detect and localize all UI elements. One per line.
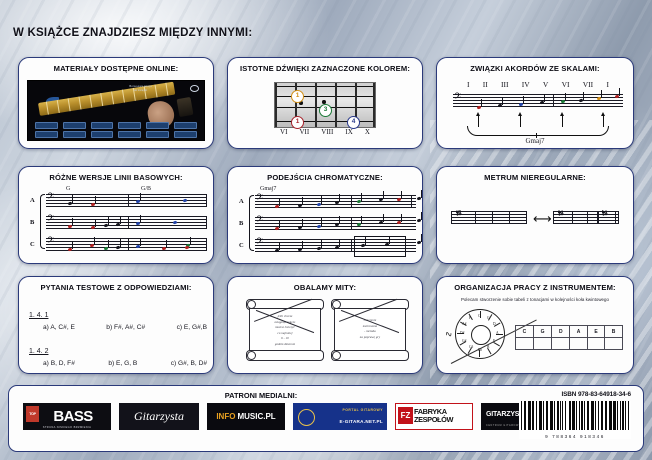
sponsor-tagline: CENTRUM GITAROWE (486, 424, 521, 427)
panel-chord-scale: ZWIĄZKI AKORDÓW ZE SKALAMI: I II III IV … (436, 57, 634, 149)
system-label-c: C (239, 242, 244, 249)
table-header-cell: C (516, 326, 534, 338)
headstock-photo (176, 97, 193, 117)
answer-option[interactable]: a) B, D, F# (43, 360, 75, 367)
table-cell[interactable] (533, 338, 552, 350)
quiz-question-1: 1. 4. 1 a) A, C#, E b) F#, A#, C# c) E, … (19, 304, 213, 331)
scale-degree: VII (583, 80, 593, 89)
answer-row: a) B, D, F# b) E, G, B c) G#, B, D# (29, 360, 213, 367)
chromatic-staff-c: 𝄢 (255, 239, 416, 253)
sponsor-logo-gitarzysta[interactable]: Gitarzysta (119, 403, 199, 430)
fret-number: VI (280, 128, 287, 136)
bass-clef-icon: 𝄢 (256, 193, 263, 204)
panel-quiz: PYTANIA TESTOWE Z ODPOWIEDZIAMI: 1. 4. 1… (18, 276, 214, 374)
time-signature-right-b: 2/4 (600, 210, 607, 214)
panel-online-title: MATERIAŁY DOSTĘPNE ONLINE: (19, 64, 213, 73)
meter-staff-right: 3/4 2/4 (553, 211, 619, 225)
table-header-cell: B (605, 326, 623, 338)
panel-myths-title: OBALAMY MITY: (228, 283, 422, 292)
thumbnail[interactable] (174, 122, 197, 129)
thumbnail[interactable] (35, 122, 58, 129)
fret-marker-3: 3 (319, 104, 332, 117)
panel-colored-notes: ISTOTNE DŹWIĘKI ZAZNACZONE KOLOREM: 1 3 … (227, 57, 423, 149)
circle-label: G (487, 316, 490, 320)
table-header-cell: G (533, 326, 552, 338)
circle-label: G# (462, 339, 466, 343)
video-caption: Bonusowa lekcja do książki (91, 85, 190, 93)
time-signature-right-a: 3/4 (556, 210, 563, 214)
table-row (516, 338, 623, 350)
scale-degree: IV (522, 80, 530, 89)
bass-clef-icon: 𝄢 (454, 92, 461, 103)
meter-staff-left: 5/4 (451, 211, 527, 225)
table-cell[interactable] (552, 338, 570, 350)
hand-drawn-squiggle-icon: ∿ (444, 328, 454, 341)
scale-degree: I (606, 80, 609, 89)
circle-of-fifths-diagram: C G D A E B F# C# G# D# A# F (455, 309, 505, 359)
table-cell[interactable] (516, 338, 534, 350)
myth-scroll-1: jeśli chcesz osiągnąć sukces musisz ćwic… (246, 299, 324, 361)
chord-symbol-g-b: G/B (141, 186, 151, 192)
circle-label: A# (462, 322, 466, 326)
fret-marker-1: 1 (291, 90, 304, 103)
system-label-a: A (30, 197, 35, 204)
panel-meter: METRUM NIEREGULARNE: 5/4 ⟷ 3/4 2/4 (436, 166, 634, 264)
bass-staff-a: 𝄢 (46, 194, 207, 208)
panel-myths: OBALAMY MITY: jeśli chcesz osiągnąć sukc… (227, 276, 423, 374)
system-label-a: A (239, 198, 244, 205)
bass-clef-icon: 𝄢 (47, 236, 54, 247)
fretboard-diagram: 1 3 1 4 (274, 82, 376, 128)
question-number: 1. 4. 2 (29, 348, 48, 355)
circle-label: D# (460, 331, 464, 335)
table-header-cell: E (588, 326, 605, 338)
sponsor-word: Gitarzysta (134, 409, 184, 424)
panel-quiz-title: PYTANIA TESTOWE Z ODPOWIEDZIAMI: (19, 283, 213, 292)
chromatic-staff-b: 𝄢 (255, 217, 416, 231)
key-table: C G D A E B (515, 325, 623, 350)
myth-scroll-2: ćwiczenie metronomu - metoda na poprawę … (331, 299, 409, 361)
bass-clef-icon: 𝄢 (47, 192, 54, 203)
double-arrow-icon: ⟷ (533, 213, 552, 226)
table-header-row: C G D A E B (516, 326, 623, 338)
barcode: 9 788364 918346 (519, 401, 631, 439)
thumbnail[interactable] (91, 122, 114, 129)
thumbnail[interactable] (63, 131, 86, 138)
sponsor-logo-egitara[interactable]: PORTAL GITAROWY E-GITARA.NET.PL (293, 403, 387, 430)
fret-number: VII (299, 128, 309, 136)
bass-staff-c: 𝄢 (46, 238, 207, 252)
chord-label: Gmaj7 (437, 137, 633, 145)
thumbnail[interactable] (63, 122, 86, 129)
sponsor-kicker: TOP (26, 406, 39, 422)
bass-staff-b: 𝄢 (46, 216, 207, 230)
table-cell[interactable] (588, 338, 605, 350)
panel-organization: ORGANIZACJA PRACY Z INSTRUMENTEM: Poleca… (436, 276, 634, 374)
sponsor-word-2: MUSIC.PL (237, 412, 275, 421)
sponsor-word-2: E-GITARA.NET.PL (340, 419, 383, 424)
table-header-cell: A (570, 326, 588, 338)
scale-degree: III (501, 80, 509, 89)
sponsor-word: BASS (53, 408, 92, 425)
myth-text-1: jeśli chcesz osiągnąć sukces musisz ćwic… (253, 314, 317, 347)
system-label-b: B (30, 219, 34, 226)
system-brace (40, 194, 45, 249)
sponsor-logo-topbass[interactable]: TOP BASS STRUNA NISKIEGO BRZMIENIA (23, 403, 111, 430)
system-label-c: C (30, 241, 35, 248)
circle-label: C (478, 314, 480, 318)
fret-number: X (365, 128, 370, 136)
video-control-icon[interactable] (190, 85, 199, 92)
panel-chromatic: PODEJŚCIA CHROMATYCZNE: Gmaj7 A 𝄢 B (227, 166, 423, 264)
sponsor-logo-list: TOP BASS STRUNA NISKIEGO BRZMIENIA Gitar… (23, 403, 561, 430)
myth-text-2: ćwiczenie metronomu - metoda na poprawę … (338, 318, 402, 340)
highlight-box (354, 236, 406, 257)
organization-note: Polecam stworzenie sobie tabeli z tonacj… (445, 297, 625, 302)
panel-colored-notes-title: ISTOTNE DŹWIĘKI ZAZNACZONE KOLOREM: (228, 64, 422, 73)
circle-label: B (487, 345, 489, 349)
bass-clef-icon: 𝄢 (256, 237, 263, 248)
panel-bass-lines: RÓŻNE WERSJE LINII BASOWYCH: G G/B A 𝄢 B… (18, 166, 214, 264)
panel-bass-lines-title: RÓŻNE WERSJE LINII BASOWYCH: (19, 173, 213, 182)
sponsor-logo-infomusic[interactable]: INFO MUSIC.PL (207, 403, 285, 430)
sponsor-mark: FZ (398, 407, 413, 424)
answer-option[interactable]: b) F#, A#, C# (106, 324, 145, 331)
quiz-question-2: 1. 4. 2 a) B, D, F# b) E, G, B c) G#, B,… (19, 340, 213, 367)
fret-number-row: VI VII VIII IX X (274, 128, 376, 136)
system-label-b: B (239, 220, 243, 227)
thumbnail[interactable] (35, 131, 58, 138)
guitar-icon (298, 409, 315, 426)
table-cell[interactable] (570, 338, 588, 350)
footer-title: PATRONI MEDIALNI: (9, 391, 513, 400)
answer-option[interactable]: b) E, G, B (108, 360, 137, 367)
scale-degree: I (467, 80, 470, 89)
scale-degree: VI (562, 80, 570, 89)
answer-row: a) A, C#, E b) F#, A#, C# c) E, G#,B (29, 324, 213, 331)
page-title: W KSIĄŻCE ZNAJDZIESZ MIĘDZY INNYMI: (13, 27, 252, 39)
thumbnail[interactable] (146, 131, 169, 138)
barcode-bars (521, 401, 629, 430)
online-video-photo[interactable]: Bonusowa lekcja do książki (27, 80, 205, 141)
thumbnail[interactable] (118, 131, 141, 138)
fret-number: IX (345, 128, 352, 136)
circle-label: A (496, 331, 499, 335)
time-signature-left: 5/4 (454, 210, 461, 214)
table-header-cell: D (552, 326, 570, 338)
panel-chord-scale-title: ZWIĄZKI AKORDÓW ZE SKALAMI: (437, 64, 633, 73)
scale-degree-row: I II III IV V VI VII I (467, 80, 609, 89)
panel-chromatic-title: PODEJŚCIA CHROMATYCZNE: (228, 173, 422, 182)
fret-number: VIII (321, 128, 333, 136)
footer-sponsors-bar: PATRONI MEDIALNI: TOP BASS STRUNA NISKIE… (8, 385, 644, 452)
bass-clef-icon: 𝄢 (47, 214, 54, 225)
question-number: 1. 4. 1 (29, 312, 48, 319)
scale-degree: II (483, 80, 488, 89)
chromatic-staff-a: 𝄢 (255, 195, 416, 209)
sponsor-tagline: STRUNA NISKIEGO BRZMIENIA (26, 426, 108, 429)
video-thumbnail-grid[interactable] (35, 122, 197, 137)
circle-label: F (469, 316, 471, 320)
thumbnail[interactable] (146, 122, 169, 129)
panel-online-materials: MATERIAŁY DOSTĘPNE ONLINE: Bonusowa lekc… (18, 57, 214, 149)
chord-brace (467, 126, 609, 136)
sponsor-logo-fabrykazespolow[interactable]: FZ FABRYKA ZESPOŁÓW (395, 403, 473, 430)
thumbnail[interactable] (118, 122, 141, 129)
circle-label: C# (469, 345, 473, 349)
table-cell[interactable] (605, 338, 623, 350)
answer-option[interactable]: c) E, G#,B (177, 324, 207, 331)
circle-label: D (493, 322, 496, 326)
sponsor-word-2: ZESPOŁÓW (414, 415, 453, 424)
thumbnail[interactable] (91, 131, 114, 138)
answer-option[interactable]: c) G#, B, D# (171, 360, 207, 367)
panel-meter-title: METRUM NIEREGULARNE: (437, 173, 633, 182)
chord-symbol-g: G (66, 186, 70, 192)
back-cover-page: W KSIĄŻCE ZNAJDZIESZ MIĘDZY INNYMI: MATE… (0, 0, 652, 460)
chord-scale-staff: 𝄢 (453, 94, 623, 108)
thumbnail[interactable] (174, 131, 197, 138)
isbn-text: ISBN 978-83-64918-34-6 (561, 391, 631, 398)
sponsor-word-1: PORTAL GITAROWY (343, 408, 383, 412)
sponsor-word-1: INFO (216, 412, 235, 421)
answer-option[interactable]: a) A, C#, E (43, 324, 75, 331)
scale-degree: V (543, 80, 548, 89)
bass-clef-icon: 𝄢 (256, 215, 263, 226)
barcode-digits: 9 788364 918346 (519, 434, 631, 439)
system-brace (249, 195, 254, 251)
panel-organization-title: ORGANIZACJA PRACY Z INSTRUMENTEM: (437, 283, 633, 292)
